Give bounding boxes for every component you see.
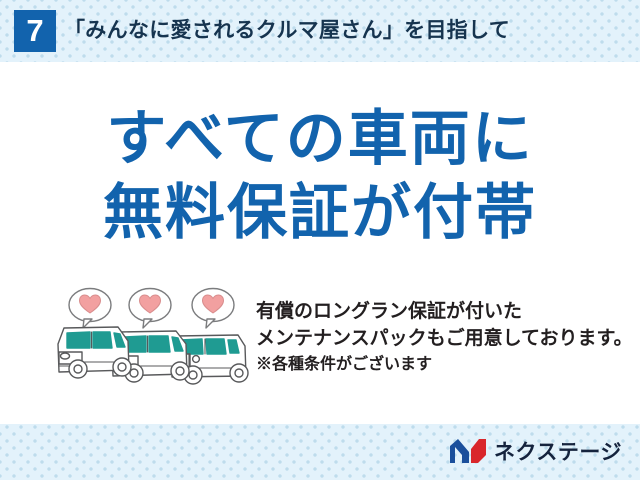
lower-section: 有償のロングラン保証が付いた メンテナンスパックもご用意しております。 ※各種条… xyxy=(0,284,640,402)
car-kei-left xyxy=(58,327,131,378)
cars-svg xyxy=(50,284,250,396)
headline-line-2: 無料保証が付帯 xyxy=(0,176,640,250)
body-copy-line-1: 有償のロングラン保証が付いた xyxy=(256,298,636,325)
heart-bubble-left xyxy=(69,289,111,329)
body-copy-line-2: メンテナンスパックもご用意しております。 xyxy=(256,325,636,352)
section-number-badge: 7 xyxy=(14,10,56,52)
content-panel: すべての車両に 無料保証が付帯 xyxy=(0,62,640,424)
headline: すべての車両に 無料保証が付帯 xyxy=(0,102,640,250)
promo-banner: 7 「みんなに愛されるクルマ屋さん」を目指して すべての車両に 無料保証が付帯 xyxy=(0,0,640,480)
body-copy-note: ※各種条件がございます xyxy=(256,352,636,378)
body-copy: 有償のロングラン保証が付いた メンテナンスパックもご用意しております。 ※各種条… xyxy=(256,298,636,378)
headline-line-1: すべての車両に xyxy=(0,102,640,176)
banner-header: 7 「みんなに愛されるクルマ屋さん」を目指して xyxy=(0,0,640,62)
n-logo-icon xyxy=(449,438,487,464)
brand-name: ネクステージ xyxy=(494,436,622,466)
heart-bubble-right xyxy=(192,289,234,329)
heart-bubble-center xyxy=(129,289,171,329)
cars-illustration xyxy=(50,284,250,396)
banner-footer: ネクステージ xyxy=(0,424,640,480)
brand-logo: ネクステージ xyxy=(449,437,622,465)
header-title: 「みんなに愛されるクルマ屋さん」を目指して xyxy=(64,12,624,50)
